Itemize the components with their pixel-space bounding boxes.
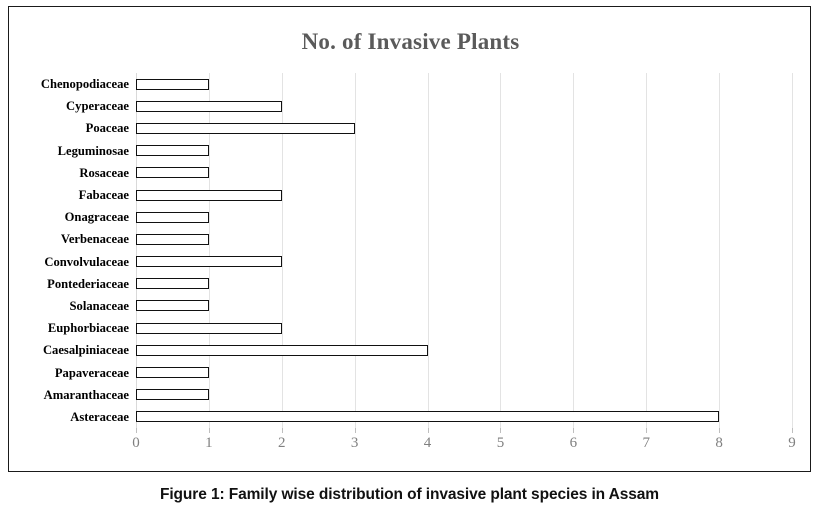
bar-caesalpiniaceae <box>136 345 428 356</box>
x-tickmark-0 <box>136 428 137 433</box>
bar-onagraceae <box>136 212 209 223</box>
chart-frame: No. of Invasive Plants ChenopodiaceaeCyp… <box>8 6 811 472</box>
x-tick-label-0: 0 <box>132 435 140 452</box>
plot-area <box>136 73 792 428</box>
chart-title: No. of Invasive Plants <box>9 29 812 55</box>
figure-caption: Figure 1: Family wise distribution of in… <box>0 486 819 504</box>
bar-row <box>136 95 792 117</box>
bar-row <box>136 384 792 406</box>
y-axis-label-caesalpiniaceae: Caesalpiniaceae <box>9 343 129 357</box>
bar-row <box>136 273 792 295</box>
bar-papaveraceae <box>136 367 209 378</box>
y-axis-label-convolvulaceae: Convolvulaceae <box>9 255 129 269</box>
y-axis-label-asteraceae: Asteraceae <box>9 410 129 424</box>
bar-row <box>136 140 792 162</box>
x-tick-label-1: 1 <box>205 435 213 452</box>
y-axis-labels: ChenopodiaceaeCyperaceaePoaceaeLeguminos… <box>9 73 129 428</box>
x-tick-label-3: 3 <box>351 435 359 452</box>
bar-leguminosae <box>136 145 209 156</box>
bar-pontederiaceae <box>136 278 209 289</box>
x-tickmark-7 <box>646 428 647 433</box>
x-tickmark-2 <box>282 428 283 433</box>
x-tick-label-9: 9 <box>788 435 796 452</box>
y-axis-label-poaceae: Poaceae <box>9 121 129 135</box>
y-axis-label-onagraceae: Onagraceae <box>9 210 129 224</box>
x-tickmark-1 <box>209 428 210 433</box>
x-tick-label-4: 4 <box>424 435 432 452</box>
y-axis-label-rosaceae: Rosaceae <box>9 166 129 180</box>
bar-asteraceae <box>136 411 719 422</box>
y-axis-label-papaveraceae: Papaveraceae <box>9 366 129 380</box>
bar-row <box>136 295 792 317</box>
x-tick-label-5: 5 <box>497 435 505 452</box>
y-axis-label-euphorbiaceae: Euphorbiaceae <box>9 321 129 335</box>
y-axis-label-solanaceae: Solanaceae <box>9 299 129 313</box>
y-axis-label-verbenaceae: Verbenaceae <box>9 232 129 246</box>
x-tickmark-5 <box>500 428 501 433</box>
bar-row <box>136 206 792 228</box>
bar-row <box>136 117 792 139</box>
x-tick-label-2: 2 <box>278 435 286 452</box>
bar-row <box>136 406 792 428</box>
y-axis-label-chenopodiaceae: Chenopodiaceae <box>9 77 129 91</box>
x-tickmark-4 <box>428 428 429 433</box>
bar-row <box>136 184 792 206</box>
y-axis-label-pontederiaceae: Pontederiaceae <box>9 277 129 291</box>
x-axis-labels: 0123456789 <box>136 435 792 457</box>
bar-row <box>136 73 792 95</box>
bar-euphorbiaceae <box>136 323 282 334</box>
figure-page: No. of Invasive Plants ChenopodiaceaeCyp… <box>0 0 819 522</box>
gridline-9 <box>792 73 793 428</box>
x-tickmark-8 <box>719 428 720 433</box>
bar-row <box>136 162 792 184</box>
y-axis-label-leguminosae: Leguminosae <box>9 144 129 158</box>
y-axis-label-cyperaceae: Cyperaceae <box>9 99 129 113</box>
bar-convolvulaceae <box>136 256 282 267</box>
bar-verbenaceae <box>136 234 209 245</box>
x-tickmark-9 <box>792 428 793 433</box>
bar-amaranthaceae <box>136 389 209 400</box>
bar-cyperaceae <box>136 101 282 112</box>
bar-chenopodiaceae <box>136 79 209 90</box>
bar-poaceae <box>136 123 355 134</box>
bar-fabaceae <box>136 190 282 201</box>
bar-row <box>136 228 792 250</box>
y-axis-label-amaranthaceae: Amaranthaceae <box>9 388 129 402</box>
bar-row <box>136 361 792 383</box>
bars-group <box>136 73 792 428</box>
bar-row <box>136 317 792 339</box>
bar-row <box>136 339 792 361</box>
y-axis-label-fabaceae: Fabaceae <box>9 188 129 202</box>
bar-rosaceae <box>136 167 209 178</box>
x-tick-label-7: 7 <box>642 435 650 452</box>
x-tick-label-8: 8 <box>715 435 723 452</box>
x-tick-label-6: 6 <box>570 435 578 452</box>
x-tickmark-6 <box>573 428 574 433</box>
x-tickmark-3 <box>355 428 356 433</box>
bar-row <box>136 251 792 273</box>
bar-solanaceae <box>136 300 209 311</box>
